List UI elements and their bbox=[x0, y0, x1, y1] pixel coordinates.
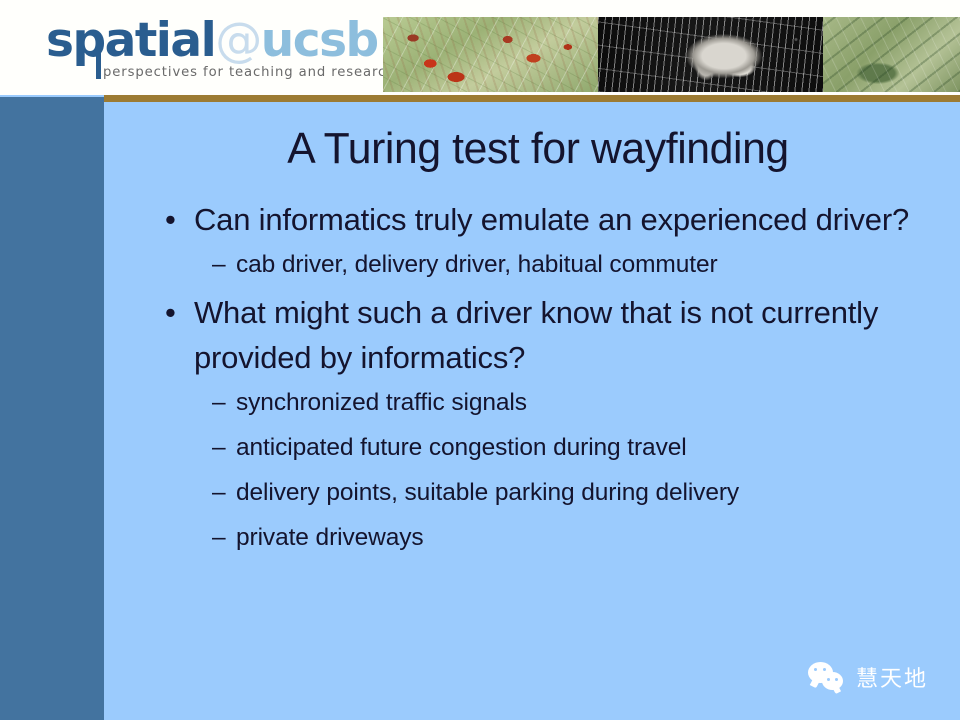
bullet-marker-icon: • bbox=[165, 290, 176, 335]
bullet-level2-text: delivery points, suitable parking during… bbox=[236, 479, 739, 506]
aerial-satellite-imagery bbox=[383, 17, 598, 92]
bullet-level2: – synchronized traffic signals bbox=[154, 380, 954, 425]
header-image-banner bbox=[383, 17, 960, 92]
slide-title: A Turing test for wayfinding bbox=[199, 124, 878, 174]
wechat-bubble-small bbox=[822, 672, 843, 690]
logo-stem-accent bbox=[96, 51, 101, 79]
bullet-level2: – delivery points, suitable parking duri… bbox=[154, 470, 954, 515]
bullet-level2-text: cab driver, delivery driver, habitual co… bbox=[236, 251, 718, 278]
bullet-marker-icon: • bbox=[165, 197, 176, 242]
bullet-level2: – anticipated future congestion during t… bbox=[154, 425, 954, 470]
brain-mri-scan bbox=[598, 17, 823, 92]
dash-marker-icon: – bbox=[212, 425, 226, 470]
spatial-ucsb-logo: spatial@ucsb perspectives for teaching a… bbox=[46, 16, 356, 82]
dash-marker-icon: – bbox=[212, 470, 226, 515]
bullet-level1-text: What might such a driver know that is no… bbox=[194, 295, 878, 375]
terrain-relief-imagery bbox=[823, 17, 960, 92]
slide-header: spatial@ucsb perspectives for teaching a… bbox=[0, 0, 960, 95]
wechat-watermark: 慧天地 bbox=[808, 655, 950, 699]
left-accent-column bbox=[0, 97, 104, 720]
header-divider-rule bbox=[104, 95, 960, 102]
logo-at-symbol: @ bbox=[215, 13, 261, 68]
wechat-icon bbox=[808, 661, 848, 693]
bullet-level1: • Can informatics truly emulate an exper… bbox=[154, 197, 954, 242]
bullet-level2: – private driveways bbox=[154, 515, 954, 560]
bullet-list: • Can informatics truly emulate an exper… bbox=[154, 197, 954, 560]
logo-tagline: perspectives for teaching and research bbox=[103, 65, 395, 80]
bullet-level2-text: anticipated future congestion during tra… bbox=[236, 434, 687, 461]
bullet-level1-text: Can informatics truly emulate an experie… bbox=[194, 202, 909, 237]
logo-word-secondary: ucsb bbox=[261, 13, 378, 68]
presentation-slide: spatial@ucsb perspectives for teaching a… bbox=[0, 0, 960, 720]
bullet-level2-text: synchronized traffic signals bbox=[236, 389, 527, 416]
dash-marker-icon: – bbox=[212, 515, 226, 560]
bullet-level2: – cab driver, delivery driver, habitual … bbox=[154, 242, 954, 287]
bullet-level1: • What might such a driver know that is … bbox=[154, 290, 954, 380]
slide-body: A Turing test for wayfinding • Can infor… bbox=[104, 102, 960, 720]
dash-marker-icon: – bbox=[212, 242, 226, 287]
dash-marker-icon: – bbox=[212, 380, 226, 425]
watermark-label: 慧天地 bbox=[856, 661, 928, 693]
logo-word-primary: spatial bbox=[46, 13, 215, 68]
bullet-level2-text: private driveways bbox=[236, 524, 424, 551]
